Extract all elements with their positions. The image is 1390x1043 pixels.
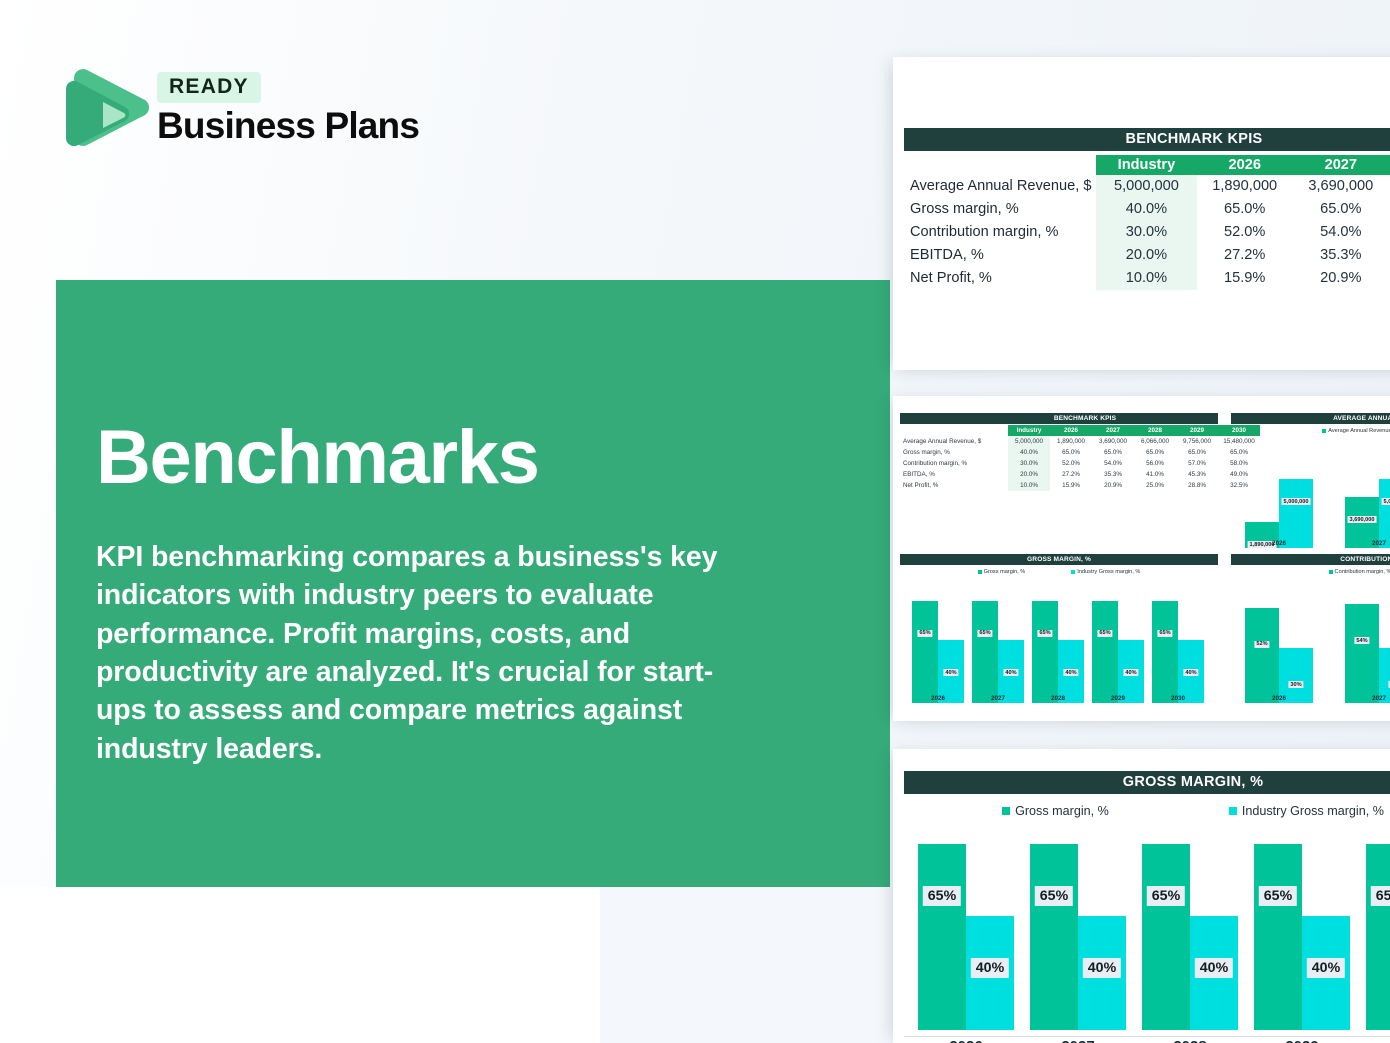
- legend-swatch-icon: [1002, 807, 1010, 815]
- kpi-column-header-2028: 2028: [1134, 425, 1176, 436]
- legend-item-1: Industry Gross margin, %: [1229, 804, 1384, 818]
- chart-title-band: GROSS MARGIN, %: [900, 554, 1218, 565]
- kpi-cell: 54.0%: [1293, 221, 1389, 244]
- bar-value-label: 65%: [1035, 886, 1073, 906]
- bar-value-label: 65%: [1147, 886, 1185, 906]
- document-panel-kpi-table[interactable]: BENCHMARK KPIS Industry202620272028 Aver…: [893, 57, 1390, 370]
- table-row: Contribution margin, %30.0%52.0%54.0%56.…: [904, 221, 1390, 244]
- x-axis-label: 2030: [1366, 1038, 1390, 1043]
- x-axis-label: 2027: [972, 695, 1024, 702]
- kpi-cell: 1,890,000: [1050, 436, 1092, 447]
- chart-gross-margin-mini[interactable]: GROSS MARGIN, % Gross margin, % Industry…: [900, 554, 1218, 703]
- bar-value-label: 3,690,000: [1348, 516, 1377, 523]
- kpi-cell: 20.9%: [1293, 267, 1389, 290]
- legend-swatch-icon: [1329, 570, 1333, 574]
- bar: [912, 601, 938, 703]
- bar-value-label: 40%: [971, 958, 1009, 978]
- kpi-row-label: Average Annual Revenue, $: [904, 175, 1096, 198]
- chart-contribution-margin-mini[interactable]: CONTRIBUTION MARGIN, % Contribution marg…: [1231, 554, 1390, 703]
- kpi-column-header-industry: Industry: [1096, 155, 1196, 175]
- bar-value-label: 30%: [1288, 681, 1303, 688]
- kpi-table-title-band: BENCHMARK KPIS: [904, 128, 1390, 151]
- legend-label: Industry Gross margin, %: [1242, 804, 1384, 818]
- kpi-cell: 65.0%: [1197, 198, 1293, 221]
- hero-panel: Benchmarks KPI benchmarking compares a b…: [56, 280, 890, 887]
- legend-label: Industry Gross margin, %: [1077, 569, 1140, 575]
- kpi-cell: 52.0%: [1197, 221, 1293, 244]
- kpi-cell: 10.0%: [1096, 267, 1196, 290]
- benchmark-kpi-table-large: BENCHMARK KPIS Industry202620272028 Aver…: [904, 128, 1390, 290]
- brand-name: Business Plans: [157, 105, 419, 146]
- bar-group: 65%40%: [912, 593, 964, 703]
- bar-value-label: 65%: [1037, 630, 1052, 637]
- bar-group: 65%40%: [1366, 830, 1390, 1030]
- kpi-cell: 15.9%: [1050, 480, 1092, 491]
- bar: [1092, 601, 1118, 703]
- kpi-cell: 30.0%: [1096, 221, 1196, 244]
- kpi-row-label: Contribution margin, %: [904, 221, 1096, 244]
- kpi-cell: 35.3%: [1293, 244, 1389, 267]
- kpi-table-large: Industry202620272028 Average Annual Reve…: [904, 155, 1390, 290]
- bar-group: 54%30%: [1345, 593, 1390, 703]
- x-axis-label: 2027: [1345, 540, 1390, 547]
- chart-axis-line: [904, 1036, 1390, 1037]
- chart-title: CONTRIBUTION MARGIN, %: [1340, 556, 1390, 563]
- bar: [1152, 601, 1178, 703]
- x-axis-label: 2027: [1030, 1038, 1126, 1043]
- benchmark-kpi-table-mini: BENCHMARK KPIS Industry20262027202820292…: [900, 413, 1218, 491]
- kpi-cell: 5,000,000: [1096, 175, 1196, 198]
- kpi-cell: 3,690,000: [1293, 175, 1389, 198]
- kpi-cell: 41.0%: [1134, 469, 1176, 480]
- legend-swatch-icon: [978, 570, 982, 574]
- kpi-table-mini: Industry20262027202820292030 Average Ann…: [900, 425, 1260, 491]
- bar: [1345, 604, 1379, 703]
- bar-value-label: 65%: [1157, 630, 1172, 637]
- bar: [1379, 479, 1390, 548]
- kpi-cell: 3,690,000: [1092, 436, 1134, 447]
- kpi-cell: 40.0%: [1008, 447, 1050, 458]
- bar: [1032, 601, 1058, 703]
- legend-item-0: Average Annual Revenue, $: [1322, 428, 1390, 434]
- kpi-cell: 35.3%: [1092, 469, 1134, 480]
- kpi-row-label: EBITDA, %: [900, 469, 1008, 480]
- table-header-row: Industry20262027202820292030: [900, 425, 1260, 436]
- legend-swatch-icon: [1071, 570, 1075, 574]
- bar-group: 65%40%: [1152, 593, 1204, 703]
- table-row: Net Profit, %10.0%15.9%20.9%25.0%: [904, 267, 1390, 290]
- kpi-cell: 27.2%: [1050, 469, 1092, 480]
- legend-swatch-icon: [1229, 807, 1237, 815]
- table-row: Gross margin, %40.0%65.0%65.0%65.0%65.0%…: [900, 447, 1260, 458]
- bar-value-label: 40%: [1123, 669, 1138, 676]
- bar-value-label: 40%: [943, 669, 958, 676]
- bar: [972, 601, 998, 703]
- chart-legend: Gross margin, % Industry Gross margin, %: [904, 804, 1390, 818]
- kpi-cell: 30.0%: [1008, 458, 1050, 469]
- legend-item-0: Gross margin, %: [1002, 804, 1109, 818]
- legend-item-0: Gross margin, %: [978, 569, 1026, 575]
- chart-title: AVERAGE ANNUAL REVENUE, $: [1333, 415, 1390, 422]
- document-panel-gross-margin-chart[interactable]: GROSS MARGIN, % Gross margin, % Industry…: [893, 749, 1390, 1043]
- x-axis-label: 2026: [1245, 540, 1313, 547]
- bar: [1279, 479, 1313, 548]
- kpi-column-header-2026: 2026: [1197, 155, 1293, 175]
- brand-logo[interactable]: READY Business Plans: [57, 56, 437, 152]
- kpi-cell: 5,000,000: [1008, 436, 1050, 447]
- table-row: Average Annual Revenue, $5,000,0001,890,…: [904, 175, 1390, 198]
- kpi-cell: 10.0%: [1008, 480, 1050, 491]
- chart-gross-margin-large[interactable]: GROSS MARGIN, % Gross margin, % Industry…: [904, 771, 1390, 1030]
- bar-value-label: 52%: [1254, 641, 1269, 648]
- kpi-cell: 20.0%: [1008, 469, 1050, 480]
- bar-value-label: 40%: [1307, 958, 1345, 978]
- bar: [1366, 844, 1390, 1030]
- document-panel-dashboard[interactable]: BENCHMARK KPIS Industry20262027202820292…: [893, 396, 1390, 721]
- kpi-cell: 65.0%: [1134, 447, 1176, 458]
- bar-group: 3,690,0005,000,000: [1345, 452, 1390, 548]
- bar-group: 65%40%: [1092, 593, 1144, 703]
- kpi-cell: 54.0%: [1092, 458, 1134, 469]
- chart-legend: Gross margin, % Industry Gross margin, %: [900, 569, 1218, 575]
- kpi-row-label: Gross margin, %: [900, 447, 1008, 458]
- kpi-cell: 25.0%: [1134, 480, 1176, 491]
- kpi-column-header-2026: 2026: [1050, 425, 1092, 436]
- hero-description: KPI benchmarking compares a business's k…: [96, 538, 761, 768]
- chart-plot-area: 65%40%202665%40%202765%40%202865%40%2029…: [904, 830, 1390, 1030]
- bar-group: 65%40%: [972, 593, 1024, 703]
- bar: [1254, 844, 1302, 1030]
- kpi-cell: 15.9%: [1197, 267, 1293, 290]
- kpi-cell: 20.0%: [1096, 244, 1196, 267]
- x-axis-label: 2028: [1032, 695, 1084, 702]
- chart-average-annual-revenue-mini[interactable]: AVERAGE ANNUAL REVENUE, $ Average Annual…: [1231, 413, 1390, 548]
- bar-value-label: 40%: [1083, 958, 1121, 978]
- chart-plot-area: 1,890,0005,000,00020263,690,0005,000,000…: [1231, 440, 1390, 548]
- chart-title-band: GROSS MARGIN, %: [904, 771, 1390, 794]
- kpi-cell: 20.9%: [1092, 480, 1134, 491]
- chart-title-band: CONTRIBUTION MARGIN, %: [1231, 554, 1390, 565]
- chart-legend: Average Annual Revenue, $: [1231, 428, 1390, 434]
- bar-value-label: 65%: [977, 630, 992, 637]
- legend-item-0: Contribution margin, %: [1329, 569, 1390, 575]
- bar: [918, 844, 966, 1030]
- table-row: Net Profit, %10.0%15.9%20.9%25.0%28.8%32…: [900, 480, 1260, 491]
- bar: [1245, 608, 1279, 703]
- kpi-mini-table-body: Average Annual Revenue, $5,000,0001,890,…: [900, 436, 1260, 491]
- x-axis-label: 2028: [1142, 1038, 1238, 1043]
- bar-value-label: 65%: [917, 630, 932, 637]
- x-axis-label: 2026: [912, 695, 964, 702]
- bar-value-label: 65%: [1259, 886, 1297, 906]
- chart-title-band: AVERAGE ANNUAL REVENUE, $: [1231, 413, 1390, 424]
- bar-value-label: 5,000,000: [1382, 498, 1390, 505]
- kpi-cell: 65.0%: [1293, 198, 1389, 221]
- legend-swatch-icon: [1322, 429, 1326, 433]
- kpi-cell: 40.0%: [1096, 198, 1196, 221]
- kpi-mini-title: BENCHMARK KPIS: [1054, 415, 1116, 422]
- x-axis-label: 2030: [1152, 695, 1204, 702]
- table-row: Gross margin, %40.0%65.0%65.0%65.0%: [904, 198, 1390, 221]
- bar-group: 65%40%: [1254, 830, 1350, 1030]
- kpi-cell: 65.0%: [1092, 447, 1134, 458]
- bar-group: 52%30%: [1245, 593, 1313, 703]
- page-title: Benchmarks: [96, 420, 539, 496]
- legend-item-1: Industry Gross margin, %: [1071, 569, 1140, 575]
- bar: [1030, 844, 1078, 1030]
- table-row: EBITDA, %20.0%27.2%35.3%41.0%: [904, 244, 1390, 267]
- kpi-cell: 52.0%: [1050, 458, 1092, 469]
- kpi-row-label: Gross margin, %: [904, 198, 1096, 221]
- table-row: EBITDA, %20.0%27.2%35.3%41.0%45.3%49.0%: [900, 469, 1260, 480]
- brand-logo-text: READY Business Plans: [157, 72, 419, 146]
- bar-group: 65%40%: [1142, 830, 1238, 1030]
- bar-value-label: 40%: [1183, 669, 1198, 676]
- kpi-cell: 57.0%: [1176, 458, 1218, 469]
- kpi-column-header-2027: 2027: [1092, 425, 1134, 436]
- kpi-table-body: Average Annual Revenue, $5,000,0001,890,…: [904, 175, 1390, 290]
- table-header-row: Industry202620272028: [904, 155, 1390, 175]
- kpi-cell: 6,066,000: [1134, 436, 1176, 447]
- kpi-cell: 56.0%: [1134, 458, 1176, 469]
- bar-value-label: 40%: [1003, 669, 1018, 676]
- x-axis-label: 2026: [918, 1038, 1014, 1043]
- legend-label: Gross margin, %: [984, 569, 1026, 575]
- kpi-row-label: Net Profit, %: [904, 267, 1096, 290]
- bar-group: 65%40%: [1032, 593, 1084, 703]
- kpi-column-header-2029: 2029: [1176, 425, 1218, 436]
- play-triangle-logo-icon: [57, 56, 153, 152]
- chart-title: GROSS MARGIN, %: [1123, 774, 1264, 790]
- kpi-mini-title-band: BENCHMARK KPIS: [900, 413, 1218, 424]
- legend-label: Contribution margin, %: [1335, 569, 1390, 575]
- bar-group: 1,890,0005,000,000: [1245, 452, 1313, 548]
- kpi-cell: 1,890,000: [1197, 175, 1293, 198]
- bar-value-label: 65%: [1371, 886, 1390, 906]
- kpi-row-label: Average Annual Revenue, $: [900, 436, 1008, 447]
- x-axis-label: 2026: [1245, 695, 1313, 702]
- brand-badge-ready: READY: [157, 72, 261, 103]
- kpi-row-label: EBITDA, %: [904, 244, 1096, 267]
- bar-value-label: 65%: [923, 886, 961, 906]
- kpi-cell: 27.2%: [1197, 244, 1293, 267]
- kpi-corner-cell: [904, 155, 1096, 175]
- bar-value-label: 65%: [1097, 630, 1112, 637]
- table-row: Average Annual Revenue, $5,000,0001,890,…: [900, 436, 1260, 447]
- kpi-cell: 9,756,000: [1176, 436, 1218, 447]
- chart-title: GROSS MARGIN, %: [1027, 556, 1091, 563]
- x-axis-label: 2027: [1345, 695, 1390, 702]
- kpi-row-label: Contribution margin, %: [900, 458, 1008, 469]
- kpi-mini-corner-cell: [900, 425, 1008, 436]
- legend-label: Average Annual Revenue, $: [1328, 428, 1390, 434]
- x-axis-label: 2029: [1092, 695, 1144, 702]
- kpi-column-header-2027: 2027: [1293, 155, 1389, 175]
- bar: [1142, 844, 1190, 1030]
- kpi-cell: 45.3%: [1176, 469, 1218, 480]
- bar-value-label: 5,000,000: [1282, 498, 1311, 505]
- bar-value-label: 40%: [1063, 669, 1078, 676]
- table-row: Contribution margin, %30.0%52.0%54.0%56.…: [900, 458, 1260, 469]
- chart-plot-area: 52%30%202654%30%202756%30%2028: [1231, 581, 1390, 703]
- legend-label: Gross margin, %: [1015, 804, 1109, 818]
- kpi-cell: 28.8%: [1176, 480, 1218, 491]
- bar-value-label: 40%: [1195, 958, 1233, 978]
- bar-value-label: 54%: [1354, 637, 1369, 644]
- kpi-cell: 65.0%: [1176, 447, 1218, 458]
- bar-group: 65%40%: [1030, 830, 1126, 1030]
- chart-legend: Contribution margin, %: [1231, 569, 1390, 575]
- kpi-table-title: BENCHMARK KPIS: [984, 128, 1390, 151]
- kpi-row-label: Net Profit, %: [900, 480, 1008, 491]
- bar-group: 65%40%: [918, 830, 1014, 1030]
- kpi-column-header-industry: Industry: [1008, 425, 1050, 436]
- x-axis-label: 2029: [1254, 1038, 1350, 1043]
- chart-plot-area: 65%40%202665%40%202765%40%202865%40%2029…: [900, 581, 1218, 703]
- kpi-cell: 65.0%: [1050, 447, 1092, 458]
